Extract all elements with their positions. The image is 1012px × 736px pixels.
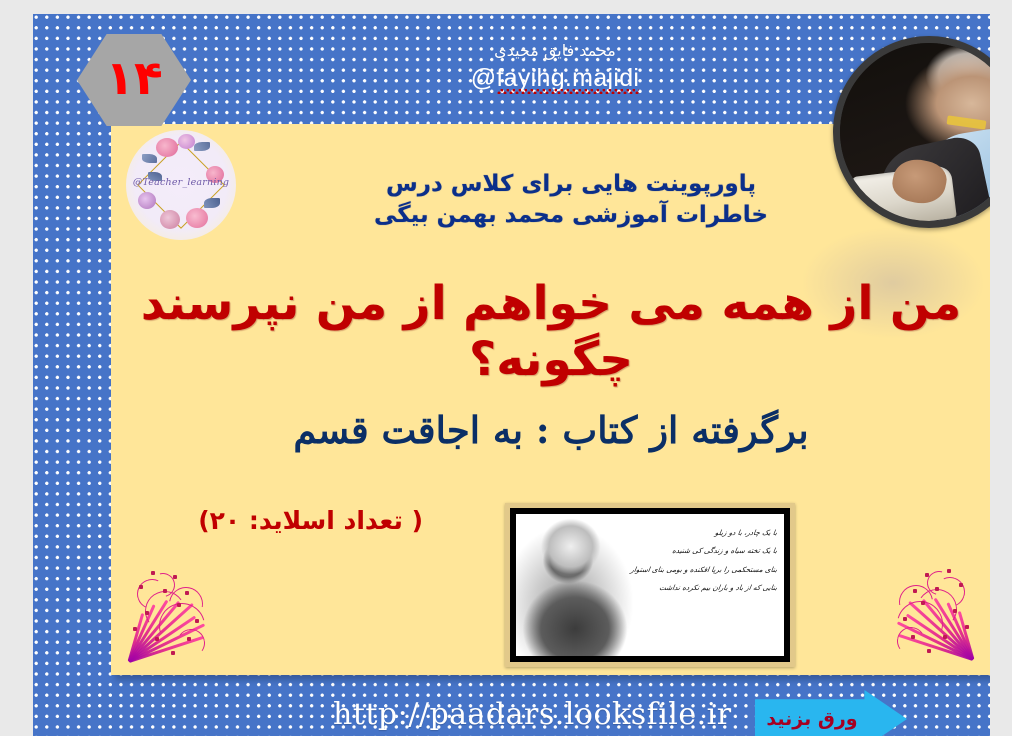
firework-spark <box>177 603 181 607</box>
firework-spark <box>953 609 957 613</box>
firework-spark <box>185 591 189 595</box>
slide-number-badge: ۱۴ <box>77 34 191 126</box>
subtitle-line-1: پاورپوینت هایی برای کلاس درس <box>361 169 781 200</box>
next-slide-label: ورق بزنید <box>763 690 861 736</box>
author-name: محمد فایق مجیدی <box>405 40 705 62</box>
calligraphy-line: بنایی که از باد و باران بیم نکرده نداشت <box>599 579 777 597</box>
firework-spark <box>187 637 191 641</box>
author-handle: @fayihg.majidi <box>471 65 640 93</box>
teacher-learning-logo: @Teacher_learning <box>126 130 236 240</box>
firework-spark <box>943 635 947 639</box>
flower-icon <box>186 208 208 228</box>
firework-spark <box>163 589 167 593</box>
photo-surface: با یک چادر، با دو زیلو با یک تخته سیاه و… <box>516 514 784 656</box>
firework-spark <box>913 589 917 593</box>
firework-spark <box>145 611 149 615</box>
calligraphy-line: با یک چادر، با دو زیلو <box>599 524 777 542</box>
firework-spark <box>935 587 939 591</box>
author-portrait-photo <box>833 36 990 228</box>
slide-background: ۱۴ محمد فایق مجیدی @fayihg.majidi <box>33 14 990 736</box>
author-credit: محمد فایق مجیدی @fayihg.majidi <box>405 40 705 92</box>
firework-spark <box>965 625 969 629</box>
leaf-icon <box>204 198 220 208</box>
firework-spark <box>151 571 155 575</box>
slide-number-text: ۱۴ <box>105 55 162 102</box>
firework-spark <box>195 619 199 623</box>
calligraphy-text: با یک چادر، با دو زیلو با یک تخته سیاه و… <box>599 524 777 597</box>
spellcheck-squiggle-underline <box>497 89 640 94</box>
author-handle-wrap: @fayihg.majidi <box>471 65 640 93</box>
firework-spark <box>133 627 137 631</box>
flower-icon <box>138 192 156 209</box>
main-headline: من از همه می خواهم از من نپرسند چگونه؟ <box>111 276 990 389</box>
slide-count-label: ( تعداد اسلاید: ۲۰) <box>198 506 423 535</box>
firework-spark <box>947 569 951 573</box>
calligraphy-line: با یک تخته سیاه و زندگی کی شنیده <box>599 542 777 560</box>
firework-spark <box>959 583 963 587</box>
firework-spark <box>927 649 931 653</box>
slide-canvas: ۱۴ محمد فایق مجیدی @fayihg.majidi <box>0 0 1012 736</box>
leaf-icon <box>194 142 210 151</box>
next-slide-arrow-button[interactable]: ورق بزنید <box>755 690 907 736</box>
calligraphy-line: بنای مستحکمی را برپا افکنده و بومی بنای … <box>599 561 777 579</box>
flower-icon <box>160 210 180 229</box>
panel-subtitle: پاورپوینت هایی برای کلاس درس خاطرات آموز… <box>361 169 781 230</box>
firework-spark <box>173 575 177 579</box>
firework-spark <box>921 601 925 605</box>
source-reference: برگرفته از کتاب : به اجاقت قسم <box>111 407 990 453</box>
firework-spark <box>139 585 143 589</box>
flower-icon <box>156 138 178 157</box>
firework-spark <box>171 651 175 655</box>
site-url[interactable]: http://paadars.looksfile.ir <box>333 697 732 732</box>
firework-spark <box>155 637 159 641</box>
leaf-icon <box>142 154 157 163</box>
firework-spark <box>903 617 907 621</box>
firework-spark <box>911 635 915 639</box>
firework-spark <box>925 573 929 577</box>
logo-label: @Teacher_learning <box>126 177 236 188</box>
firework-decoration-left <box>125 559 221 667</box>
subtitle-line-2: خاطرات آموزشی محمد بهمن بیگی <box>361 200 781 231</box>
firework-decoration-right <box>881 557 977 665</box>
flower-icon <box>178 134 195 149</box>
framed-bw-photo: با یک چادر، با دو زیلو با یک تخته سیاه و… <box>505 503 795 667</box>
photo-inner-frame: با یک چادر، با دو زیلو با یک تخته سیاه و… <box>510 508 790 662</box>
